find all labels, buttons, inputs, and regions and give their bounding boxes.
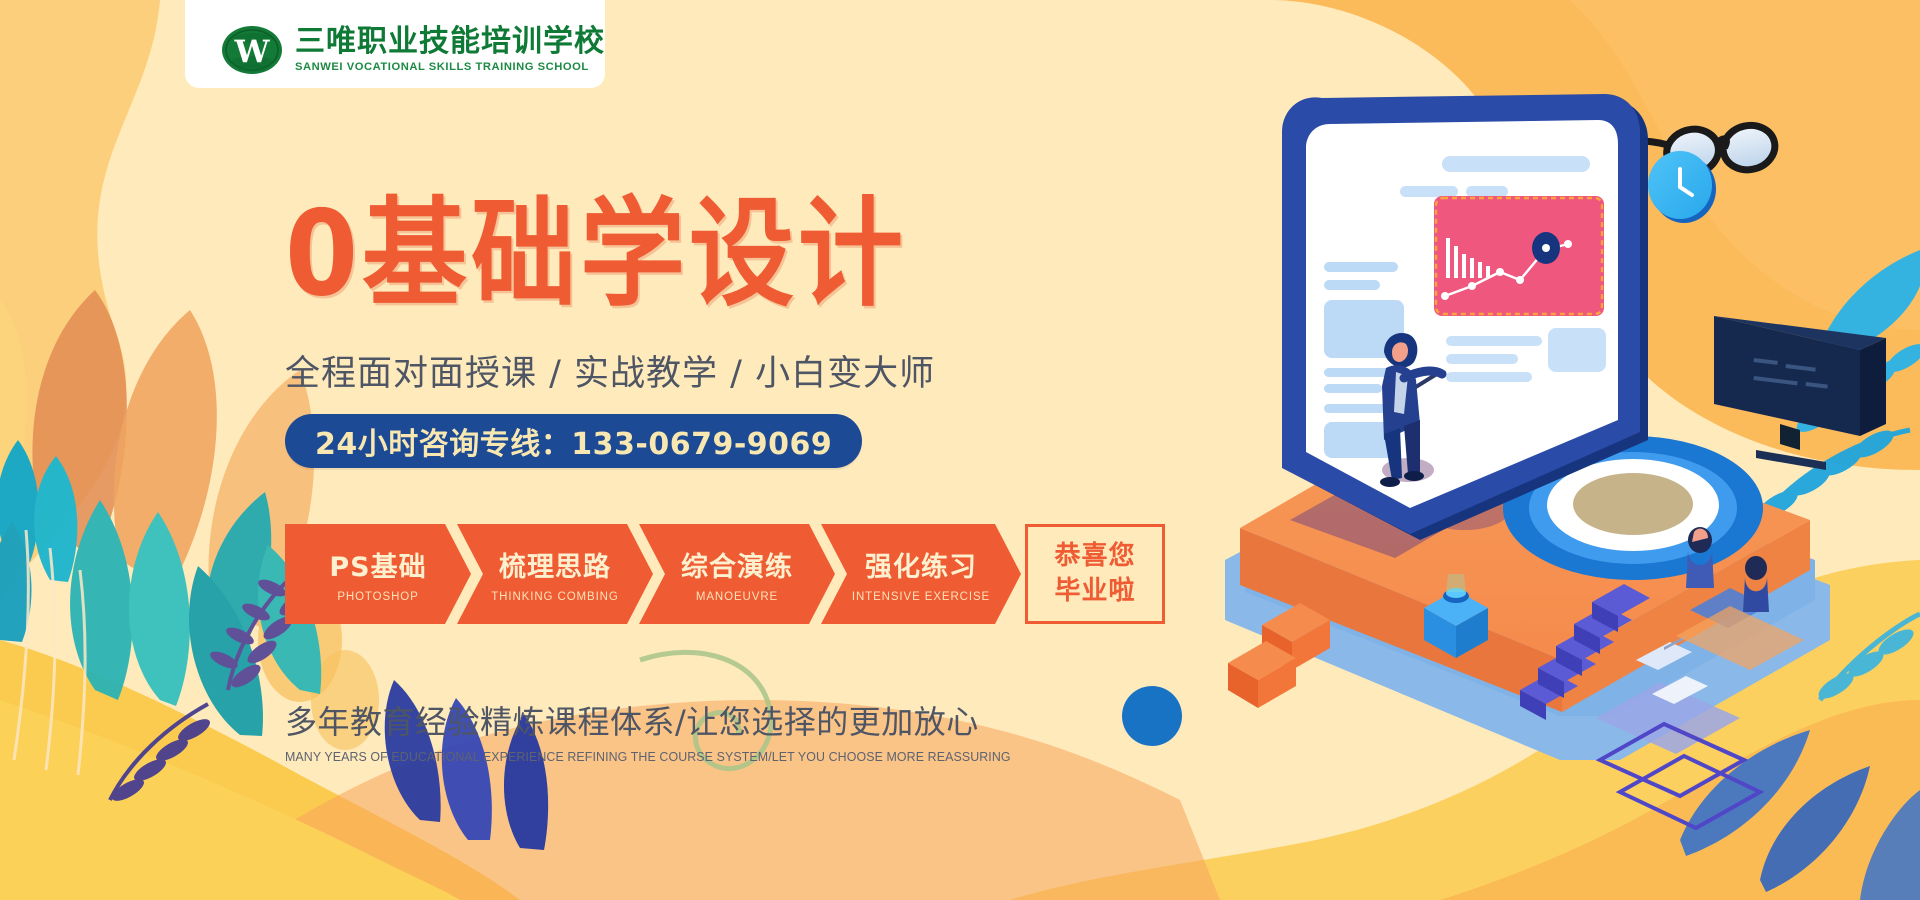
monitor-icon — [1714, 316, 1886, 470]
logo: W 三唯职业技能培训学校 SANWEI VOCATIONAL SKILLS TR… — [221, 24, 605, 76]
step-2-label-en: THINKING COMBING — [491, 591, 619, 603]
graduation-badge[interactable]: 恭喜您 毕业啦 — [1025, 524, 1165, 624]
hotline-text: 24小时咨询专线：133-0679-9069 — [315, 419, 832, 463]
tagline-cn: 多年教育经验精炼课程体系/让您选择的更加放心 — [285, 697, 1022, 743]
logo-card[interactable]: W 三唯职业技能培训学校 SANWEI VOCATIONAL SKILLS TR… — [185, 0, 605, 88]
step-4-label-cn: 强化练习 — [865, 545, 977, 584]
graduation-line-1: 恭喜您 — [1054, 539, 1135, 574]
logo-name-en: SANWEI VOCATIONAL SKILLS TRAINING SCHOOL — [295, 62, 605, 73]
step-3-label-en: MANOEUVRE — [696, 591, 778, 603]
logo-name-cn: 三唯职业技能培训学校 — [295, 27, 605, 57]
content-column: 0基础学设计 全程面对面授课 / 实战教学 / 小白变大师 24小时咨询专线：1… — [0, 0, 1200, 900]
hotline-pill[interactable]: 24小时咨询专线：133-0679-9069 — [285, 414, 862, 468]
chart-panel — [1434, 196, 1604, 316]
tagline-en: MANY YEARS OF EDUCATIONAL EXPERIENCE REF… — [285, 750, 1011, 764]
step-4[interactable]: 强化练习 INTENSIVE EXERCISE — [821, 524, 1021, 624]
w-oval-logo-icon: W — [221, 24, 283, 76]
graduation-line-2: 毕业啦 — [1054, 574, 1135, 609]
step-3-label-cn: 综合演练 — [681, 545, 793, 584]
step-1-label-en: PHOTOSHOP — [337, 591, 418, 603]
step-1-label-cn: PS基础 — [329, 545, 426, 584]
step-4-label-en: INTENSIVE EXERCISE — [852, 591, 990, 603]
step-1[interactable]: PS基础 PHOTOSHOP — [285, 524, 471, 624]
subheadline: 全程面对面授课 / 实战教学 / 小白变大师 — [285, 345, 935, 396]
promo-banner: W 三唯职业技能培训学校 SANWEI VOCATIONAL SKILLS TR… — [0, 0, 1920, 900]
step-2[interactable]: 梳理思路 THINKING COMBING — [457, 524, 653, 624]
svg-text:W: W — [234, 34, 271, 70]
headline: 0基础学设计 — [285, 196, 907, 314]
footer-tagline: 多年教育经验精炼课程体系/让您选择的更加放心 MANY YEARS OF EDU… — [285, 697, 1022, 764]
step-2-label-cn: 梳理思路 — [499, 545, 611, 584]
course-steps: PS基础 PHOTOSHOP 梳理思路 THINKING COMBING 综合演… — [285, 524, 1165, 624]
step-3[interactable]: 综合演练 MANOEUVRE — [639, 524, 835, 624]
